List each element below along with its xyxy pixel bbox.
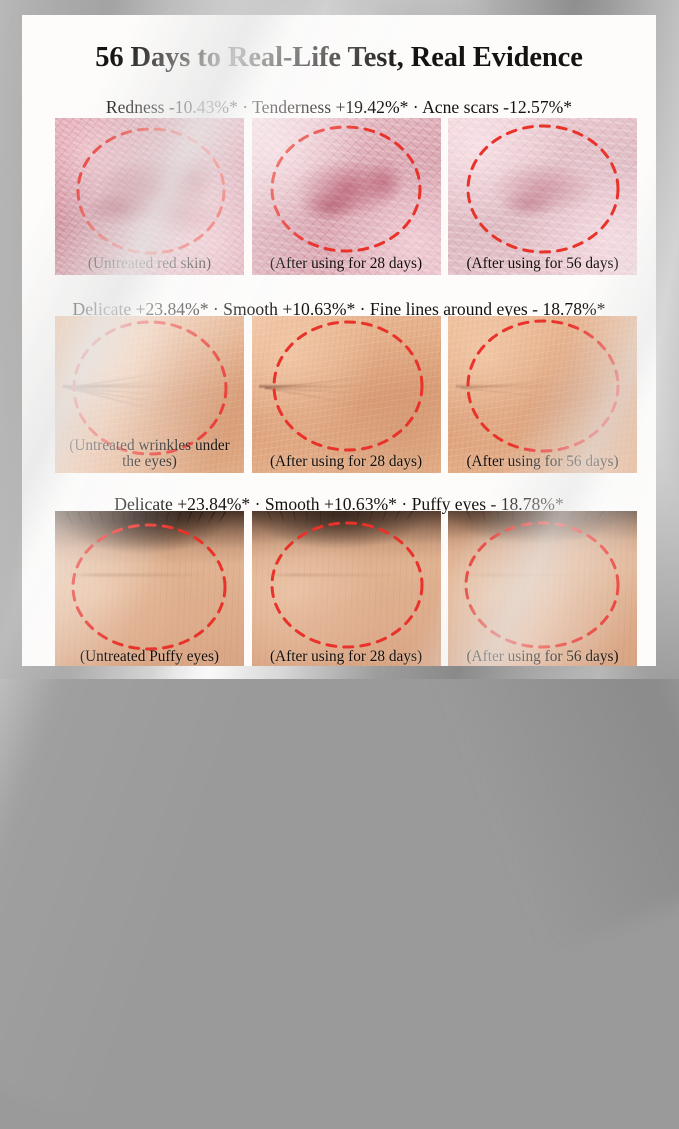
- comparison-row-puffy-eyes: (Untreated Puffy eyes): [55, 511, 637, 666]
- panel-caption: (After using for 56 days): [448, 649, 637, 666]
- skin-texture-wrinkles-56days: [448, 316, 637, 473]
- photo-panel-wrinkles-56days: (After using for 56 days): [448, 316, 637, 473]
- row-subtitle-redness: Redness -10.43%* · Tenderness +19.42%* ·…: [22, 97, 656, 118]
- skin-texture-red-56days: [448, 118, 637, 275]
- photo-panel-redness-28days: (After using for 28 days): [252, 118, 441, 275]
- photo-panel-redness-untreated: (Untreated red skin): [55, 118, 244, 275]
- photo-panel-puffy-untreated: (Untreated Puffy eyes): [55, 511, 244, 666]
- panel-caption: (Untreated Puffy eyes): [55, 649, 244, 666]
- photo-panel-redness-56days: (After using for 56 days): [448, 118, 637, 275]
- comparison-row-redness: (Untreated red skin) (After using for 28…: [55, 118, 637, 275]
- panel-caption: (Untreated red skin): [55, 256, 244, 273]
- eyelid-crease: [263, 574, 403, 576]
- panel-caption: (After using for 56 days): [448, 256, 637, 273]
- infographic-card: 56 Days to Real-Life Test, Real Evidence…: [22, 15, 656, 666]
- eyelid-crease: [66, 574, 206, 576]
- comparison-row-wrinkles: (Untreated wrinkles under the eyes) (Aft…: [55, 316, 637, 473]
- skin-texture-red-untreated: [55, 118, 244, 275]
- page-title: 56 Days to Real-Life Test, Real Evidence: [22, 42, 656, 74]
- eyelash-band: [448, 511, 637, 552]
- panel-caption: (After using for 28 days): [252, 256, 441, 273]
- eyelash-band: [55, 511, 244, 564]
- photo-panel-puffy-28days: (After using for 28 days): [252, 511, 441, 666]
- panel-caption: (After using for 28 days): [252, 454, 441, 471]
- photo-panel-puffy-56days: (After using for 56 days): [448, 511, 637, 666]
- photo-panel-wrinkles-untreated: (Untreated wrinkles under the eyes): [55, 316, 244, 473]
- eyelash-band: [252, 511, 441, 558]
- skin-texture-wrinkles-28days: [252, 316, 441, 473]
- panel-caption: (Untreated wrinkles under the eyes): [55, 438, 244, 471]
- panel-caption: (After using for 56 days): [448, 454, 637, 471]
- eyelid-crease: [459, 574, 599, 576]
- skin-texture-red-28days: [252, 118, 441, 275]
- photo-panel-wrinkles-28days: (After using for 28 days): [252, 316, 441, 473]
- panel-caption: (After using for 28 days): [252, 649, 441, 666]
